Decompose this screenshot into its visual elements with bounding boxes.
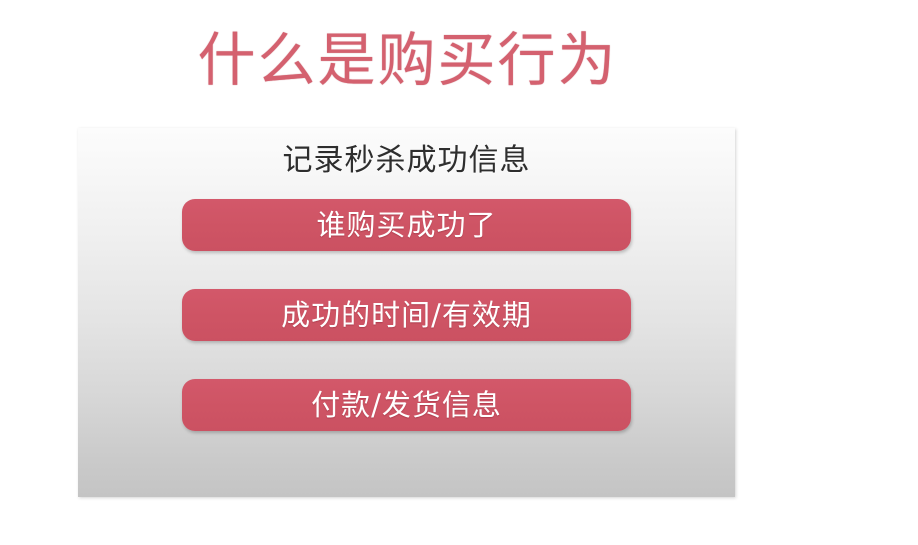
- list-item[interactable]: 成功的时间/有效期: [182, 289, 631, 341]
- page-title: 什么是购买行为: [0, 22, 815, 98]
- list-item[interactable]: 谁购买成功了: [182, 199, 631, 251]
- slide-canvas: 什么是购买行为 记录秒杀成功信息 谁购买成功了 成功的时间/有效期 付款/发货信…: [0, 0, 918, 545]
- list-item-label: 成功的时间/有效期: [281, 289, 532, 341]
- list-item[interactable]: 付款/发货信息: [182, 379, 631, 431]
- panel-heading: 记录秒杀成功信息: [78, 139, 735, 183]
- content-panel: 记录秒杀成功信息 谁购买成功了 成功的时间/有效期 付款/发货信息: [78, 128, 735, 497]
- list-item-label: 付款/发货信息: [311, 379, 502, 431]
- list-item-label: 谁购买成功了: [316, 199, 496, 251]
- pill-list: 谁购买成功了 成功的时间/有效期 付款/发货信息: [182, 199, 631, 431]
